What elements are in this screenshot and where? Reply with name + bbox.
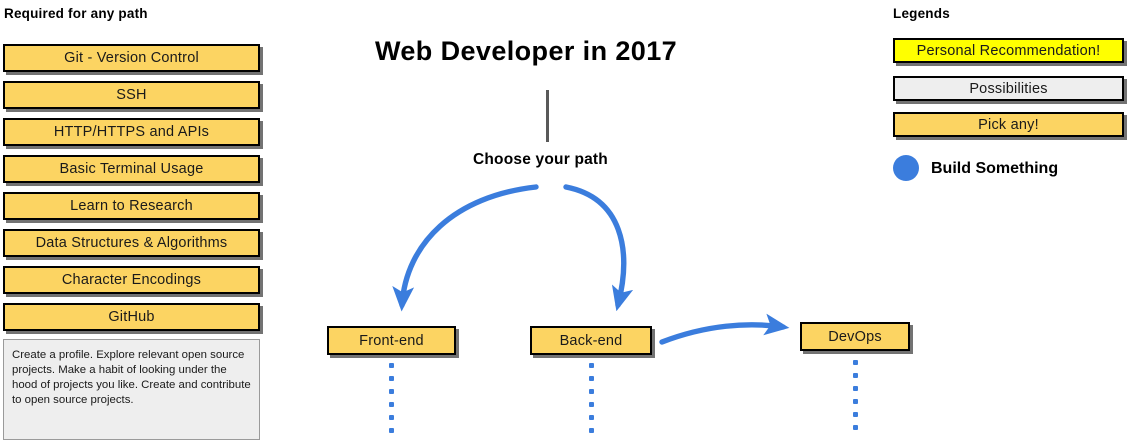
required-item-character-encodings[interactable]: Character Encodings [3,266,260,294]
path-box-devops[interactable]: DevOps [800,322,910,351]
path-label: Front-end [359,333,424,349]
page-title: Web Developer in 2017 [375,36,677,67]
path-label: DevOps [828,329,882,345]
legend-build-something-label: Build Something [931,160,1058,178]
required-item-ssh[interactable]: SSH [3,81,260,109]
required-item-git[interactable]: Git - Version Control [3,44,260,72]
arrow-back-end-to-devops [662,325,783,342]
required-column-heading: Required for any path [4,6,148,21]
path-box-front-end[interactable]: Front-end [327,326,456,355]
choose-your-path-label: Choose your path [473,151,608,169]
legend-label: Pick any! [978,117,1039,133]
required-item-label: Basic Terminal Usage [60,161,204,177]
required-item-label: Character Encodings [62,272,201,288]
arrow-to-front-end [402,187,536,305]
dot-trail-devops [853,360,858,438]
legend-label: Personal Recommendation! [917,43,1101,59]
dot-trail-back-end [589,363,594,441]
required-item-label: Data Structures & Algorithms [36,235,228,251]
required-item-label: Learn to Research [70,198,193,214]
path-label: Back-end [560,333,623,349]
path-box-back-end[interactable]: Back-end [530,326,652,355]
legends-heading: Legends [893,6,950,21]
arrow-to-back-end [566,187,624,305]
required-item-basic-terminal-usage[interactable]: Basic Terminal Usage [3,155,260,183]
legend-personal-recommendation[interactable]: Personal Recommendation! [893,38,1124,63]
required-item-learn-to-research[interactable]: Learn to Research [3,192,260,220]
github-note-panel: Create a profile. Explore relevant open … [3,339,260,440]
required-item-data-structures-algorithms[interactable]: Data Structures & Algorithms [3,229,260,257]
legend-label: Possibilities [969,81,1047,97]
build-something-circle-icon [893,155,919,181]
required-item-label: Git - Version Control [64,50,199,66]
required-item-label: SSH [116,87,146,103]
stem-connector-line [546,90,549,142]
required-item-github[interactable]: GitHub [3,303,260,331]
required-item-label: GitHub [108,309,154,325]
legend-pick-any[interactable]: Pick any! [893,112,1124,137]
required-item-label: HTTP/HTTPS and APIs [54,124,209,140]
required-item-http-https-apis[interactable]: HTTP/HTTPS and APIs [3,118,260,146]
legend-possibilities[interactable]: Possibilities [893,76,1124,101]
dot-trail-front-end [389,363,394,441]
